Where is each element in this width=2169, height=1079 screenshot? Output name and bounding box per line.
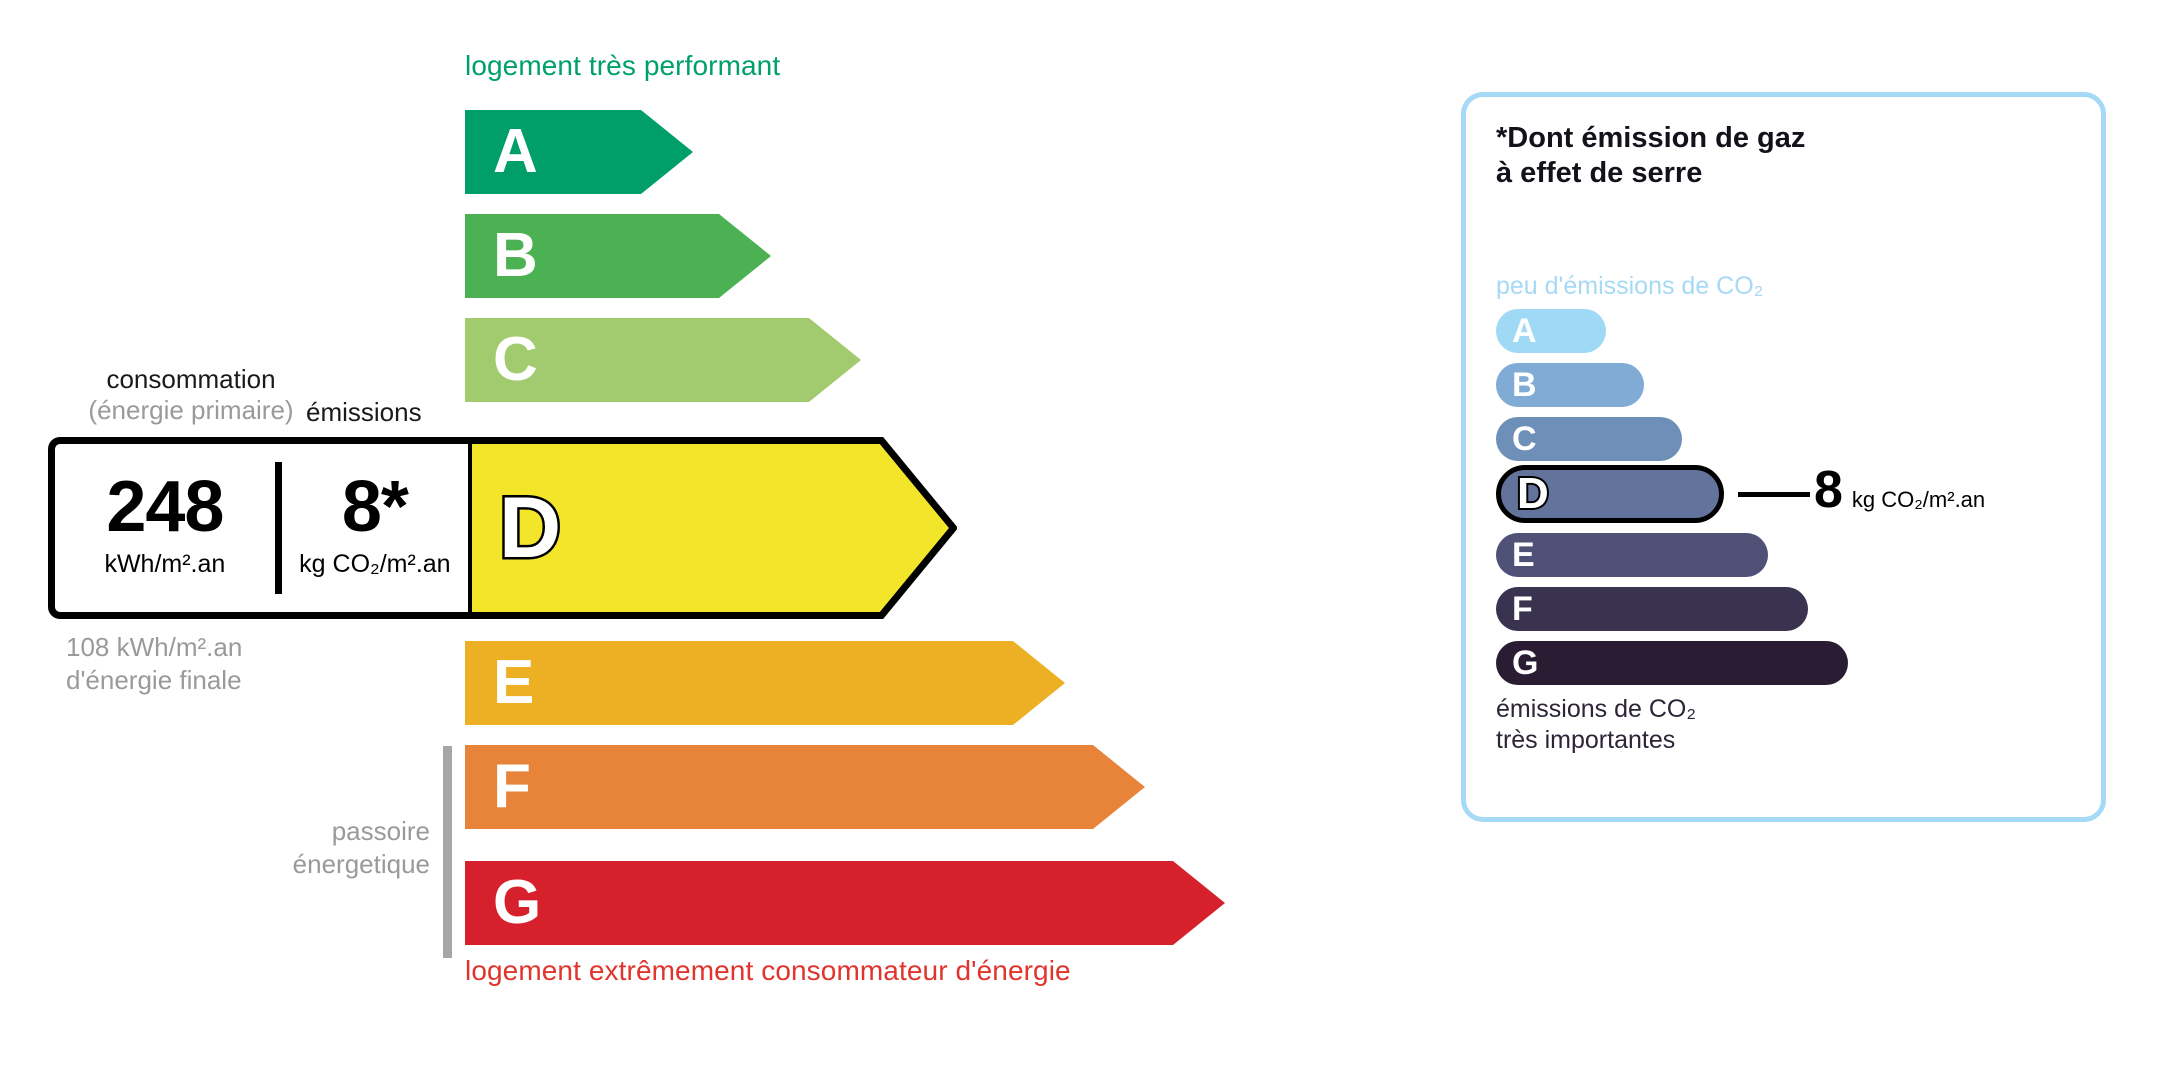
co2-class-bars: ABCDEFG: [1496, 309, 2076, 689]
energy-value-box-wrapper: 248 kWh/m².an 8* kg CO₂/m².an: [48, 437, 468, 619]
co2-bar-a: A: [1496, 309, 1606, 353]
co2-class-letter-g: G: [1512, 646, 1538, 680]
energy-class-letter-f: F: [493, 756, 531, 818]
co2-class-f: F: [1496, 587, 1808, 631]
co2-bar-b: B: [1496, 363, 1644, 407]
passoire-note: passoire énergetique: [200, 815, 430, 880]
energy-class-g: G: [465, 861, 1225, 945]
co2-class-d: D: [1496, 465, 1724, 523]
energy-class-e: E: [465, 641, 1065, 725]
value-box-divider: [275, 462, 282, 594]
co2-bar-f: F: [1496, 587, 1808, 631]
co2-top-label: peu d'émissions de CO₂: [1496, 272, 1763, 301]
energy-arrow-shape-a: A: [465, 110, 693, 194]
consumption-cell: 248 kWh/m².an: [55, 444, 275, 612]
co2-class-letter-c: C: [1512, 422, 1537, 456]
co2-bar-e: E: [1496, 533, 1768, 577]
energy-arrow-shape-d: D: [465, 437, 957, 619]
energy-class-c: C: [465, 318, 861, 402]
emissions-unit: kg CO₂/m².an: [299, 550, 450, 579]
co2-class-g: G: [1496, 641, 1848, 685]
co2-bar-g: G: [1496, 641, 1848, 685]
consumption-value: 248: [106, 473, 223, 542]
emissions-value: 8*: [342, 473, 408, 542]
energy-class-letter-g: G: [493, 872, 541, 934]
emissions-label: émissions: [306, 397, 422, 428]
passoire-bracket: [443, 746, 452, 958]
co2-class-e: E: [1496, 533, 1768, 577]
energy-class-letter-b: B: [493, 225, 538, 287]
co2-bottom-label: émissions de CO₂ très importantes: [1496, 694, 1696, 755]
energy-class-letter-a: A: [493, 121, 538, 183]
consumption-label-sub: (énergie primaire): [66, 395, 316, 426]
co2-class-b: B: [1496, 363, 1644, 407]
co2-bar-c: C: [1496, 417, 1682, 461]
final-energy-note: 108 kWh/m².an d'énergie finale: [66, 631, 242, 696]
energy-class-letter-d: D: [499, 485, 561, 571]
energy-arrow-shape-e: E: [465, 641, 1065, 725]
co2-class-letter-e: E: [1512, 538, 1535, 572]
emissions-cell: 8* kg CO₂/m².an: [282, 444, 468, 612]
energy-arrow-shape-c: C: [465, 318, 861, 402]
energy-bottom-label: logement extrêmement consommateur d'éner…: [465, 955, 1071, 987]
energy-class-a: A: [465, 110, 693, 194]
energy-arrow-shape-f: F: [465, 745, 1145, 829]
consumption-label-main: consommation: [106, 364, 275, 394]
energy-arrow-shape-b: B: [465, 214, 771, 298]
dpe-diagram: logement très performant ABCDEFG 248 kWh…: [0, 0, 2169, 1079]
energy-arrow-shape-g: G: [465, 861, 1225, 945]
co2-class-letter-f: F: [1512, 592, 1533, 626]
co2-bar-d: D: [1496, 465, 1724, 523]
co2-class-letter-a: A: [1512, 314, 1537, 348]
co2-callout-unit: kg CO₂/m².an: [1852, 487, 1985, 513]
co2-callout-connector: [1738, 492, 1810, 497]
co2-callout: 8kg CO₂/m².an: [1814, 464, 1985, 516]
energy-class-f: F: [465, 745, 1145, 829]
energy-class-d: D: [465, 437, 957, 619]
consumption-label: consommation (énergie primaire): [66, 364, 316, 425]
consumption-unit: kWh/m².an: [104, 550, 225, 579]
energy-performance-panel: logement très performant ABCDEFG 248 kWh…: [0, 0, 1400, 1079]
co2-class-letter-b: B: [1512, 368, 1537, 402]
energy-class-b: B: [465, 214, 771, 298]
co2-callout-value: 8: [1814, 464, 1843, 516]
energy-class-letter-e: E: [493, 652, 534, 714]
co2-class-c: C: [1496, 417, 1682, 461]
co2-class-letter-d: D: [1517, 472, 1549, 516]
energy-class-letter-c: C: [493, 329, 538, 391]
co2-class-a: A: [1496, 309, 1606, 353]
co2-panel-title: *Dont émission de gaz à effet de serre: [1496, 121, 1805, 192]
energy-value-box: 248 kWh/m².an 8* kg CO₂/m².an: [48, 437, 468, 619]
co2-emissions-panel: *Dont émission de gaz à effet de serre p…: [1461, 92, 2106, 822]
